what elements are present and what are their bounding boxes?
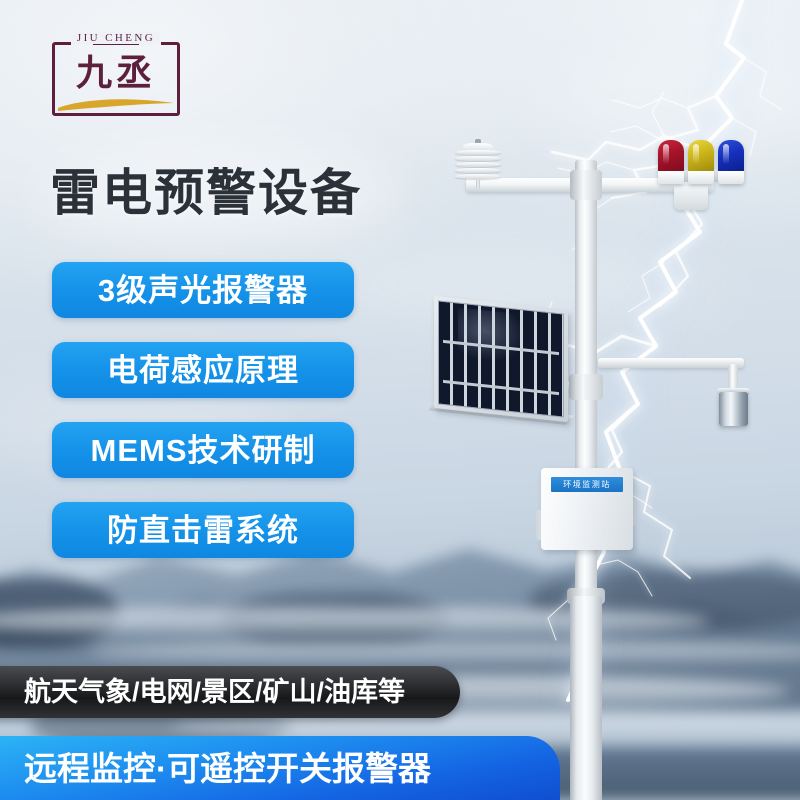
field-mill-sensor (719, 392, 748, 426)
feature-pill-label: 电荷感应原理 (107, 355, 299, 386)
swoosh-icon (56, 96, 176, 112)
page-title: 雷电预警设备 (50, 168, 362, 218)
feature-pill-alarm: 3级声光报警器 (52, 262, 354, 318)
feature-pill-list: 3级声光报警器 电荷感应原理 MEMS技术研制 防直击雷系统 (52, 262, 354, 582)
station-mast-lower (570, 596, 602, 800)
beacon-highlight (663, 144, 669, 164)
beacon-dome (688, 140, 714, 172)
logo-pinyin-text: JIU CHENG (72, 32, 160, 44)
bottom-banner: 远程监控·可遥控开关报警器 (0, 736, 560, 800)
beacon-highlight (723, 144, 729, 164)
solar-busbar (443, 380, 559, 395)
enclosure-label: 环境监测站 (551, 477, 623, 492)
shield-plate (455, 150, 501, 155)
beacon-junction-box (674, 186, 708, 210)
shield-cap (463, 143, 493, 150)
product-poster: 环境监测站 JIU CHENG 九丞 雷电预警设备 3级声光报警器 电荷感应原理… (0, 0, 800, 800)
feature-pill-mems: MEMS技术研制 (52, 422, 354, 478)
feature-pill-label: 3级声光报警器 (98, 275, 308, 306)
application-scenarios-bar: 航天气象/电网/景区/矿山/油库等 (0, 666, 460, 718)
red-alarm-beacon (658, 140, 684, 184)
feature-pill-label: MEMS技术研制 (91, 435, 316, 466)
blue-alarm-beacon (718, 140, 744, 184)
solar-busbar (443, 340, 559, 355)
sensor-arm-horizontal (598, 358, 744, 368)
cross-arm-collar (570, 170, 602, 200)
beacon-highlight (693, 144, 699, 164)
bottom-banner-label: 远程监控·可遥控开关报警器 (0, 752, 431, 785)
shield-plate (455, 162, 501, 167)
solar-panel-collar (569, 374, 603, 400)
logo-chinese-name: 九丞 (52, 53, 180, 94)
yellow-alarm-beacon (688, 140, 714, 184)
beacon-dome (658, 140, 684, 172)
shield-plate (455, 168, 501, 173)
beacon-collar (718, 171, 744, 184)
solar-cells (438, 300, 564, 417)
radiation-shield-sensor (455, 143, 501, 183)
beacon-dome (718, 140, 744, 172)
shield-plate (455, 156, 501, 161)
feature-pill-charge-induction: 电荷感应原理 (52, 342, 354, 398)
feature-pill-label: 防直击雷系统 (107, 515, 299, 546)
enclosure-label-text: 环境监测站 (563, 481, 611, 489)
beacon-collar (688, 171, 714, 184)
logo-swoosh (56, 96, 176, 112)
application-scenarios-label: 航天气象/电网/景区/矿山/油库等 (0, 679, 405, 706)
logo-pinyin: JIU CHENG (52, 33, 180, 44)
feature-pill-direct-strike-protection: 防直击雷系统 (52, 502, 354, 558)
shield-post (476, 179, 480, 189)
brand-logo: JIU CHENG 九丞 (52, 42, 180, 116)
beacon-collar (658, 171, 684, 184)
solar-panel (434, 296, 568, 422)
